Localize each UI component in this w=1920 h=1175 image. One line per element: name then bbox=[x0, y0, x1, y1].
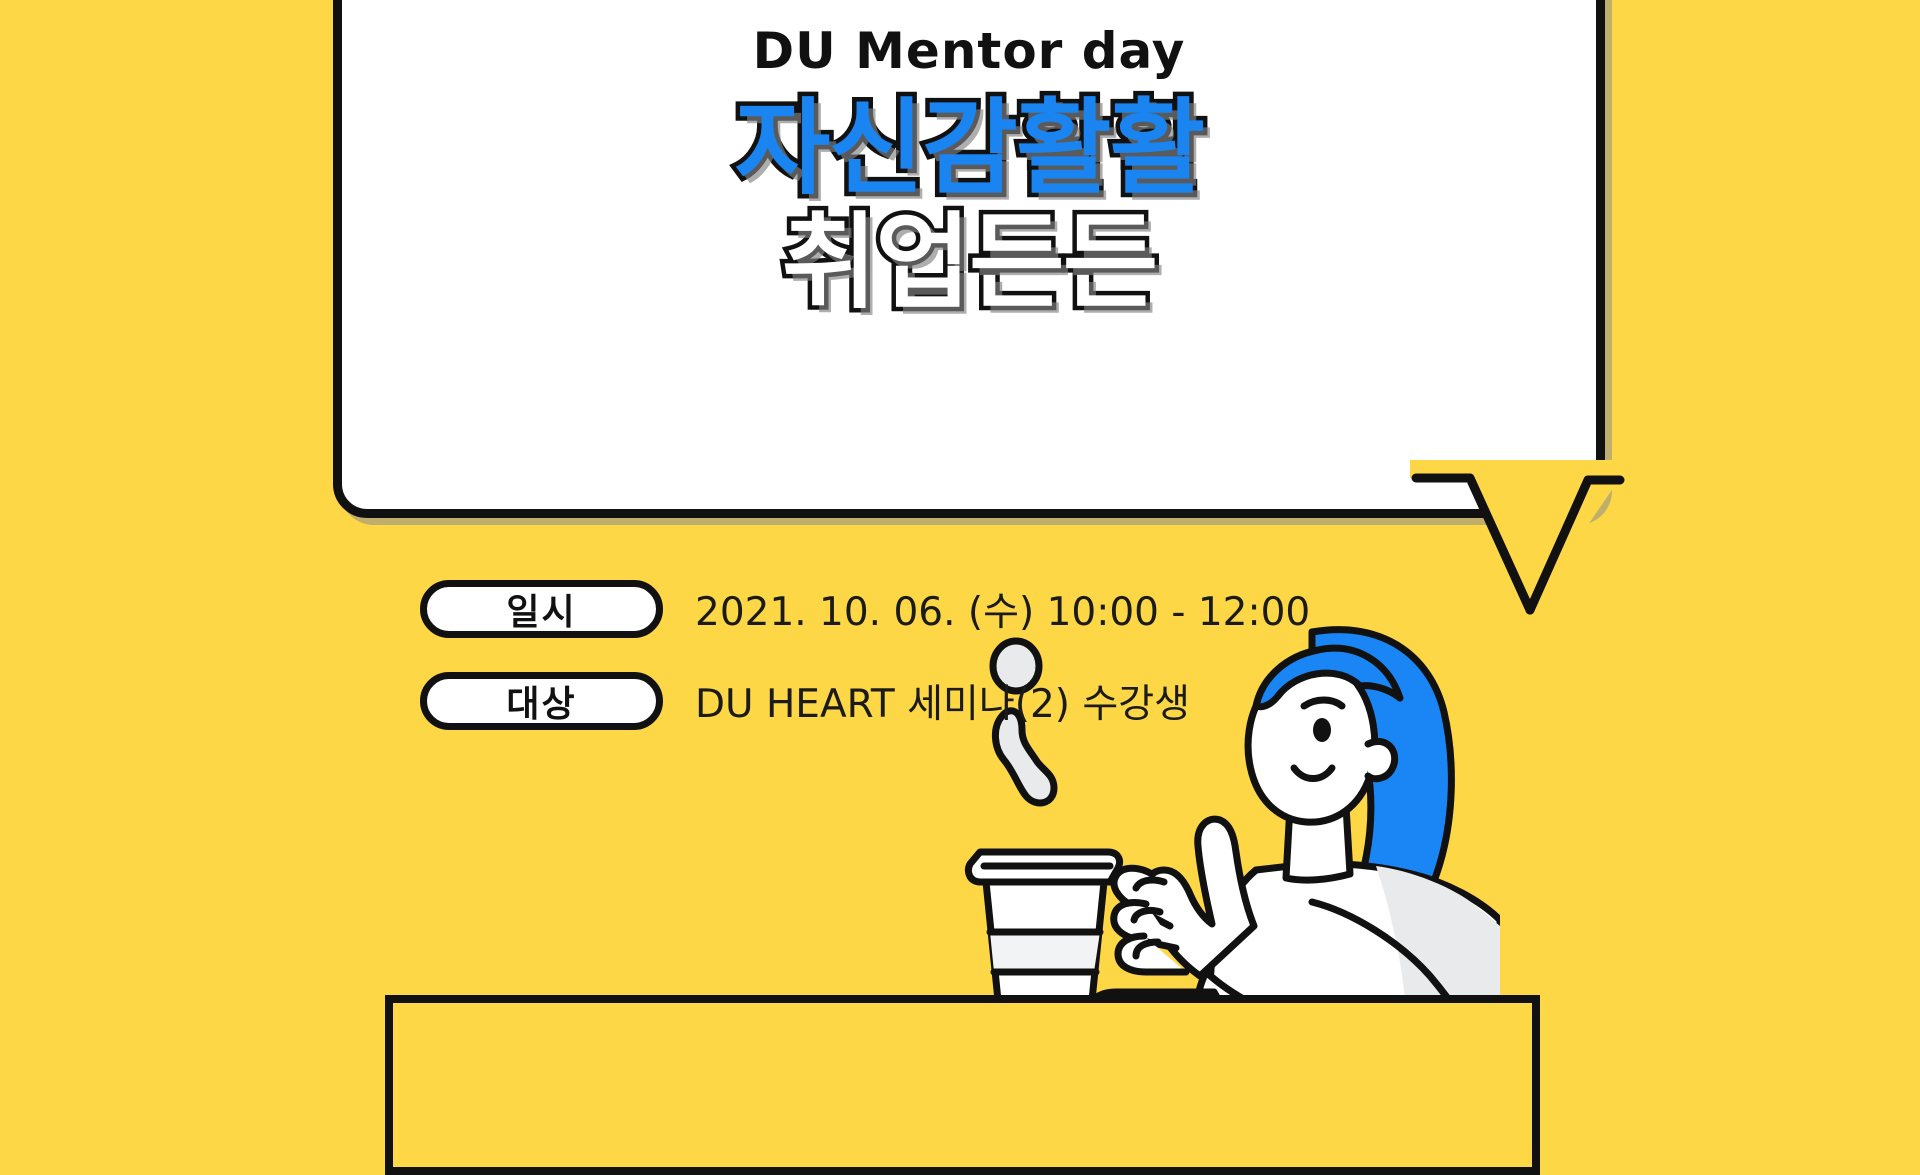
speech-bubble bbox=[333, 0, 1605, 518]
speech-bubble-tail-icon bbox=[1410, 460, 1670, 620]
info-value-date: 2021. 10. 06. (수) 10:00 - 12:00 bbox=[695, 581, 1310, 637]
info-list: 일시 2021. 10. 06. (수) 10:00 - 12:00 대상 DU… bbox=[420, 578, 1310, 762]
bottom-panel bbox=[385, 995, 1540, 1175]
poster-canvas: DU Mentor day 자신감활활 취업든든 일시 2021. 10. 06… bbox=[0, 0, 1920, 1080]
info-row-date: 일시 2021. 10. 06. (수) 10:00 - 12:00 bbox=[420, 578, 1310, 640]
woman-ear-icon bbox=[1368, 741, 1395, 778]
woman-eye-icon bbox=[1313, 718, 1331, 742]
info-label-pill-audience: 대상 bbox=[420, 672, 663, 730]
info-label-pill-date: 일시 bbox=[420, 580, 663, 638]
info-row-audience: 대상 DU HEART 세미나(2) 수강생 bbox=[420, 670, 1310, 732]
info-value-audience: DU HEART 세미나(2) 수강생 bbox=[695, 673, 1190, 729]
